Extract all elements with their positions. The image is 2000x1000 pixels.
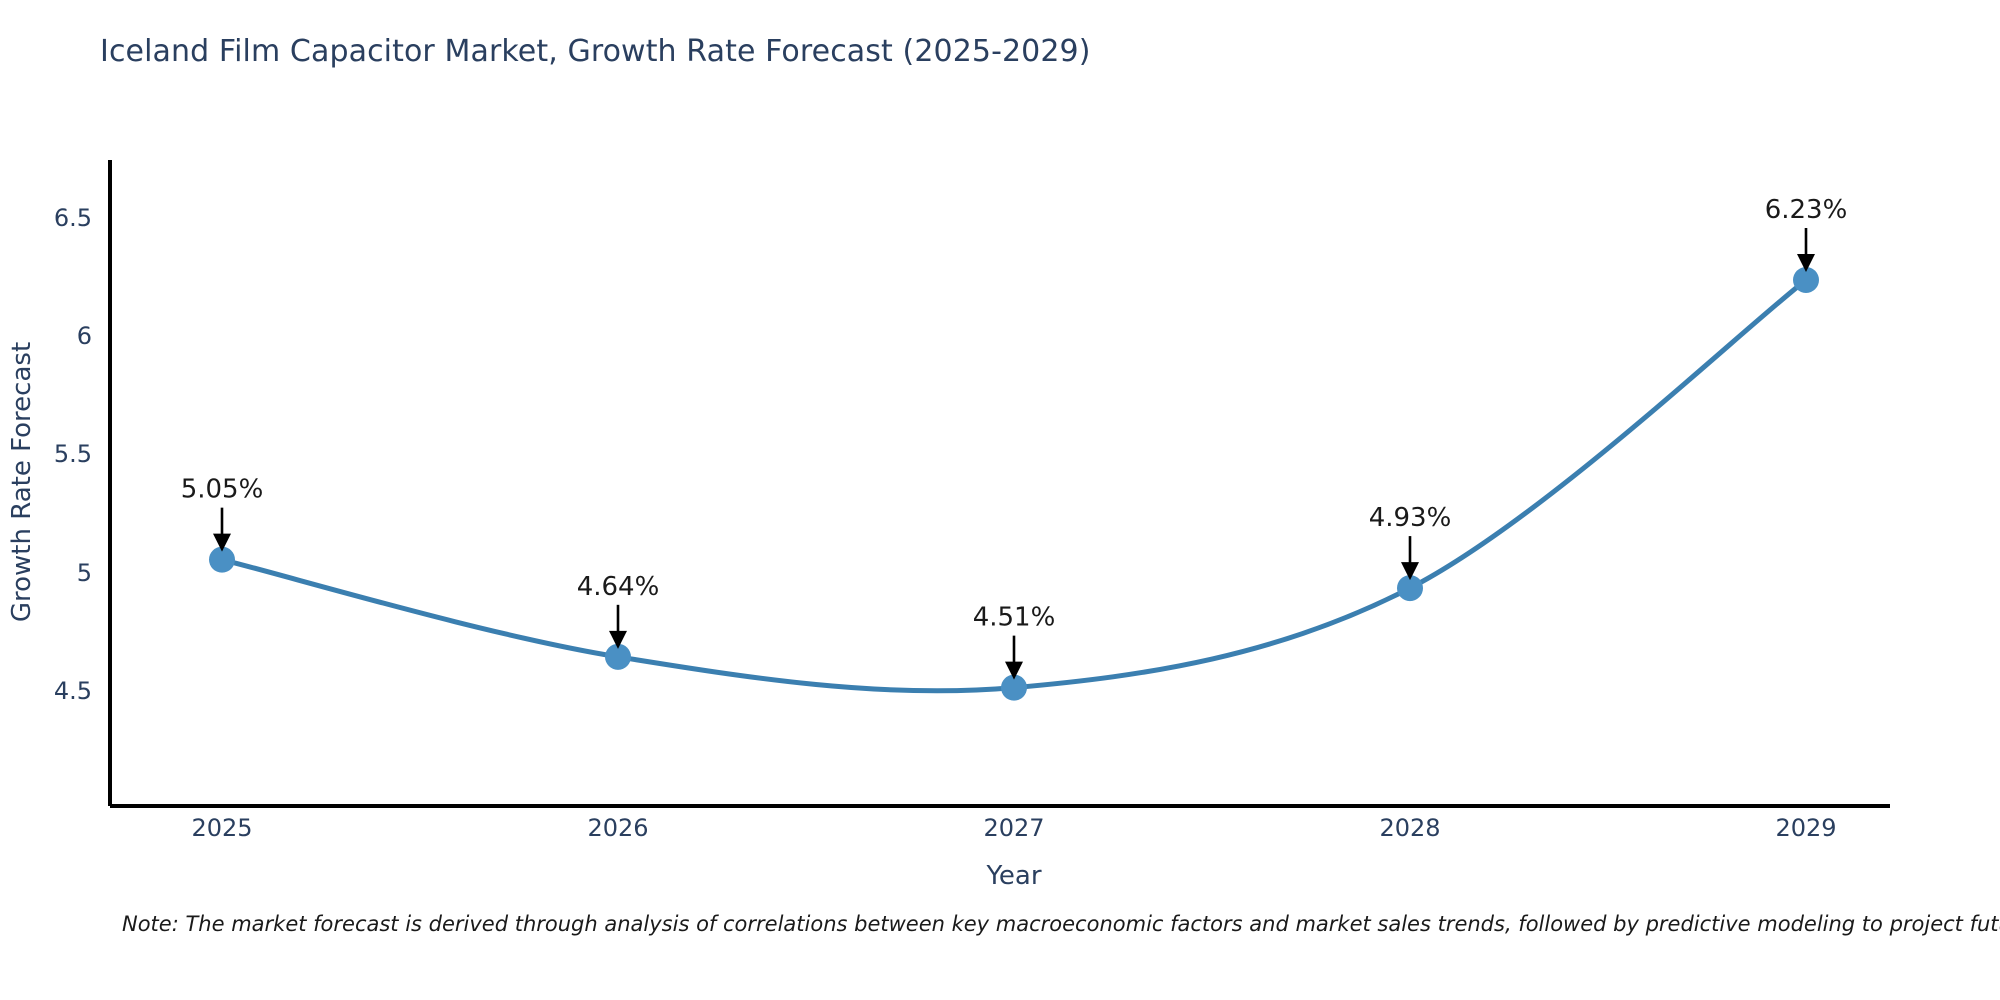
data-label-2026: 4.64% <box>577 572 660 602</box>
chart-figure: Iceland Film Capacitor Market, Growth Ra… <box>0 0 2000 1000</box>
data-label-2025: 5.05% <box>181 475 264 505</box>
x-tick-label-2029: 2029 <box>1775 814 1836 842</box>
y-tick-label-6.5: 6.5 <box>54 204 92 232</box>
data-label-2029: 6.23% <box>1765 195 1848 225</box>
y-tick-label-6: 6 <box>77 322 92 350</box>
x-tick-label-2026: 2026 <box>587 814 648 842</box>
data-label-2027: 4.51% <box>973 603 1056 633</box>
y-axis-title: Growth Rate Forecast <box>7 342 37 622</box>
data-label-2028: 4.93% <box>1369 503 1452 533</box>
x-tick-label-2028: 2028 <box>1379 814 1440 842</box>
chart-footnote: Note: The market forecast is derived thr… <box>122 912 2000 936</box>
x-tick-label-2025: 2025 <box>191 814 252 842</box>
x-tick-label-2027: 2027 <box>983 814 1044 842</box>
y-tick-label-5.5: 5.5 <box>54 440 92 468</box>
y-tick-label-5: 5 <box>77 559 92 587</box>
line-chart-plot: 6.5 6 5.5 5 4.5 2025 2026 2027 2028 2029… <box>0 0 2000 1000</box>
x-axis-title: Year <box>985 861 1041 891</box>
y-tick-label-4.5: 4.5 <box>54 677 92 705</box>
